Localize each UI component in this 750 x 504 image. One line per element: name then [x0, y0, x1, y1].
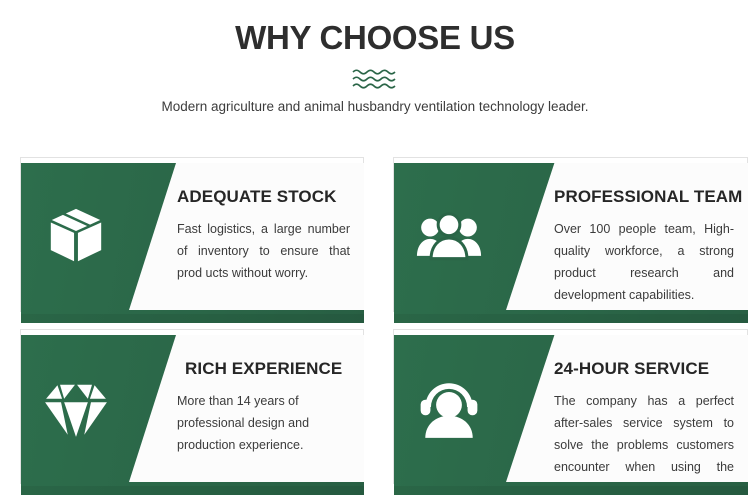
feature-card-grid: ADEQUATE STOCK Fast logistics, a large n… [0, 157, 750, 501]
feature-card-24-hour-service[interactable]: 24-HOUR SERVICE The company has a perfec… [393, 329, 748, 484]
section-header: WHY CHOOSE US Modern agriculture and ani… [0, 0, 750, 116]
card-body: 24-HOUR SERVICE The company has a perfec… [554, 359, 734, 500]
card-description: Over 100 people team, High-quality workf… [554, 218, 734, 306]
feature-card-professional-team[interactable]: PROFESSIONAL TEAM Over 100 people team, … [393, 157, 748, 312]
card-description: Fast logistics, a large number of invent… [177, 218, 350, 284]
feature-card-rich-experience[interactable]: RICH EXPERIENCE More than 14 years of pr… [20, 329, 364, 484]
card-title: RICH EXPERIENCE [177, 359, 350, 379]
card-title: PROFESSIONAL TEAM [554, 187, 734, 207]
card-body: RICH EXPERIENCE More than 14 years of pr… [177, 359, 350, 456]
card-row-1: ADEQUATE STOCK Fast logistics, a large n… [0, 157, 750, 329]
people-group-icon [416, 206, 482, 268]
box-package-icon [43, 206, 109, 268]
card-body: ADEQUATE STOCK Fast logistics, a large n… [177, 187, 350, 284]
feature-card-adequate-stock[interactable]: ADEQUATE STOCK Fast logistics, a large n… [20, 157, 364, 312]
card-description: More than 14 years of professional desig… [177, 390, 350, 456]
headset-support-icon [416, 378, 482, 440]
page-title: WHY CHOOSE US [0, 18, 750, 58]
card-title: ADEQUATE STOCK [177, 187, 350, 207]
diamond-icon [43, 378, 109, 440]
card-title: 24-HOUR SERVICE [554, 359, 734, 379]
card-row-2: RICH EXPERIENCE More than 14 years of pr… [0, 329, 750, 501]
card-body: PROFESSIONAL TEAM Over 100 people team, … [554, 187, 734, 306]
wave-divider-icon [352, 68, 398, 90]
page-subtitle: Modern agriculture and animal husbandry … [0, 98, 750, 116]
